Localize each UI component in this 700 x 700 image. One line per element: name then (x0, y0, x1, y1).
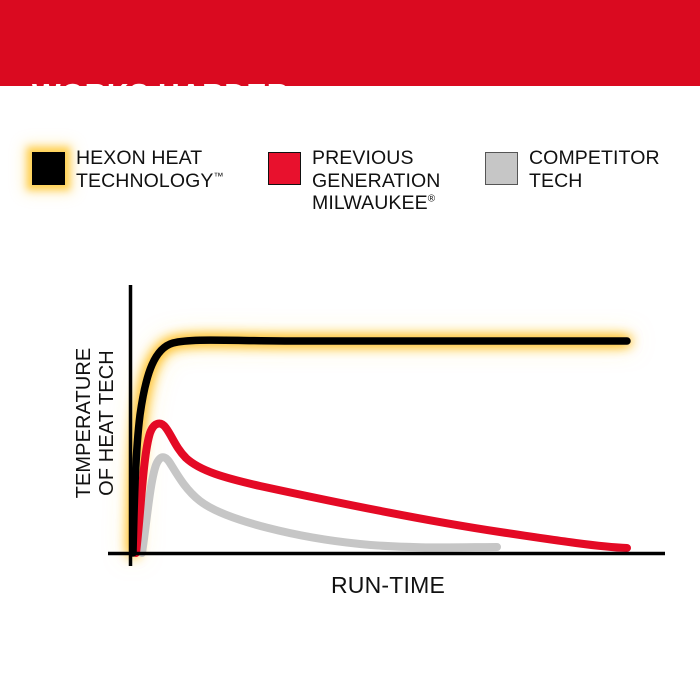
infographic-page: WORKS HARDER IN FREEZING TEMPS HEXON HEA… (0, 0, 700, 700)
chart-legend: HEXON HEAT TECHNOLOGY™ PREVIOUS GENERATI… (0, 146, 700, 246)
registered-icon: ® (428, 194, 435, 205)
competitor-tech-curve (142, 457, 497, 553)
header-banner: WORKS HARDER IN FREEZING TEMPS (0, 0, 700, 86)
legend-swatch-hexon-heat-technology (32, 152, 65, 185)
legend-swatch-previous-generation-milwaukee (268, 152, 301, 185)
legend-label-previous-generation-milwaukee: PREVIOUS GENERATION MILWAUKEE® (312, 147, 440, 215)
previous-generation-curve (136, 424, 627, 553)
trademark-icon: ™ (214, 171, 224, 182)
hexon-curve-glow (133, 340, 627, 553)
header-title-line-1: WORKS HARDER (32, 78, 340, 114)
legend-label-text-0: HEXON HEAT TECHNOLOGY (76, 147, 214, 192)
chart-x-axis-label: RUN-TIME (288, 572, 488, 599)
legend-label-hexon-heat-technology: HEXON HEAT TECHNOLOGY™ (76, 147, 224, 192)
hexon-heat-technology-curve (133, 340, 627, 553)
legend-label-text-1: PREVIOUS GENERATION MILWAUKEE (312, 147, 440, 214)
legend-label-text-2: COMPETITOR TECH (529, 147, 660, 192)
legend-label-competitor-tech: COMPETITOR TECH (529, 147, 660, 192)
chart-y-axis-label: TEMPERATURE OF HEAT TECH (73, 303, 119, 543)
legend-swatch-competitor-tech (485, 152, 518, 185)
